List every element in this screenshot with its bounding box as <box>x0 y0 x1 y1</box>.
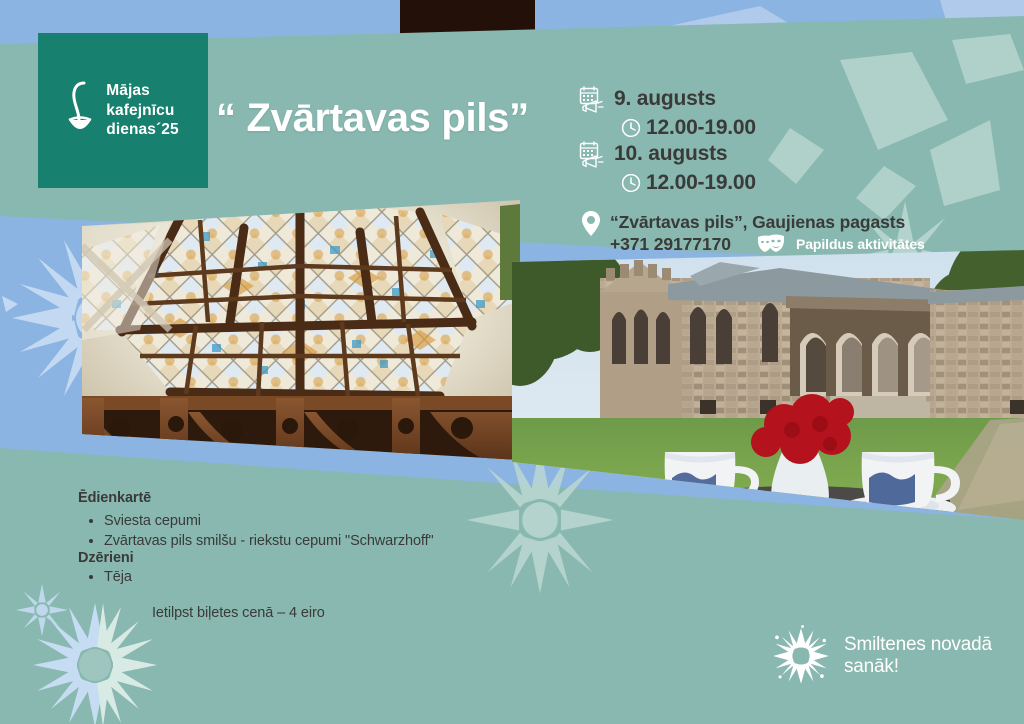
event-day-2-time-row: 12.00-19.00 <box>620 171 978 195</box>
menu-drinks-list: Tēja <box>78 568 598 588</box>
event-day-2: 10. augusts <box>578 141 978 171</box>
event-day-2-time: 12.00-19.00 <box>646 171 756 195</box>
event-day-2-date: 10. augusts <box>614 143 727 164</box>
event-day-1-time-row: 12.00-19.00 <box>620 116 978 140</box>
flower-burst-icon <box>770 625 832 687</box>
price-note: Ietilpst biļetes cenā – 4 eiro <box>152 605 325 621</box>
extra-activities-label: Papildus aktivitātes <box>796 236 925 252</box>
event-info-block: 9. augusts 12.00-19.00 <box>578 86 978 256</box>
calendar-megaphone-icon <box>578 86 606 116</box>
event-logo-box: Mājas kafejnīcu dienas´25 <box>38 33 208 188</box>
menu-food-heading: Ēdienkartē <box>78 490 598 506</box>
menu-drinks-heading: Dzērieni <box>78 550 598 566</box>
theater-masks-icon <box>756 233 786 255</box>
clock-icon <box>620 172 642 194</box>
menu-block: Ēdienkartē Sviesta cepumi Zvārtavas pils… <box>78 490 598 588</box>
list-item: Tēja <box>104 568 598 588</box>
event-day-1-date: 9. augusts <box>614 88 716 109</box>
poster-canvas: Mājas kafejnīcu dienas´25 “ Zvārtavas pi… <box>0 0 1024 724</box>
logo-line-3: dienas´25 <box>106 120 178 140</box>
event-address: “Zvārtavas pils”, Gaujienas pagasts <box>610 212 905 234</box>
brand-line-2: sanāk! <box>844 656 992 678</box>
extra-activities: Papildus aktivitātes <box>756 233 925 255</box>
event-day-1: 9. augusts <box>578 86 978 116</box>
list-item: Sviesta cepumi <box>104 512 598 532</box>
logo-line-1: Mājas <box>106 81 178 101</box>
list-item: Zvārtavas pils smilšu - riekstu cepumi "… <box>104 532 598 552</box>
event-day-1-time: 12.00-19.00 <box>646 116 756 140</box>
menu-food-list: Sviesta cepumi Zvārtavas pils smilšu - r… <box>78 512 598 551</box>
ladle-icon <box>67 80 97 142</box>
calendar-megaphone-icon <box>578 141 606 171</box>
brand-line-1: Smiltenes novadā <box>844 634 992 656</box>
location-pin-icon <box>579 209 603 241</box>
page-title: “ Zvārtavas pils” <box>216 96 529 141</box>
municipality-brand: Smiltenes novadā sanāk! <box>770 625 992 687</box>
clock-icon <box>620 117 642 139</box>
logo-line-2: kafejnīcu <box>106 101 178 121</box>
